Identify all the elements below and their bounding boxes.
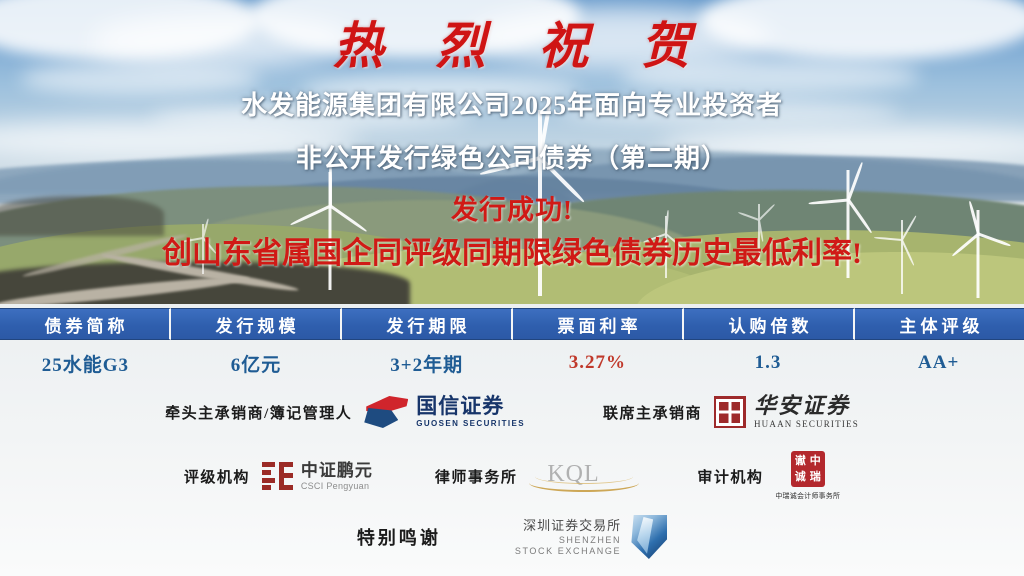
csci-logo-en: CSCI Pengyuan xyxy=(301,482,373,491)
table-cell-subscription-multiple: 1.3 xyxy=(683,344,854,382)
page-title: 热 烈 祝 贺 xyxy=(0,6,1024,78)
szse-logo-en2: STOCK EXCHANGE xyxy=(515,547,621,556)
guosen-wordmark: 国信证券 GUOSEN SECURITIES xyxy=(416,396,525,428)
table-cell-bond-name: 25水能G3 xyxy=(0,344,171,382)
table-header-cell: 主体评级 xyxy=(855,308,1024,340)
table-header-cell: 认购倍数 xyxy=(684,308,855,340)
table-header-row: 债券简称 发行规模 发行期限 票面利率 认购倍数 主体评级 xyxy=(0,308,1024,340)
seal-char: 诚 xyxy=(795,472,806,483)
lead-underwriter-label: 牵头主承销商/簿记管理人 xyxy=(165,402,352,423)
kql-emblem-icon: KQL xyxy=(529,461,639,491)
seal-char: 瑞 xyxy=(810,472,821,483)
special-thanks-label: 特别鸣谢 xyxy=(357,524,441,550)
huaan-seal-icon xyxy=(714,396,746,428)
csci-pengyuan-wordmark: 中证鹏元 CSCI Pengyuan xyxy=(301,462,373,491)
szse-emblem-icon xyxy=(629,515,667,559)
zhongruicheng-audit-logo: 谳 中 诚 瑞 中瑞诚会计师事务所 xyxy=(775,451,840,501)
huaan-securities-logo: 华安证券 HUAAN SECURITIES xyxy=(714,395,859,429)
audit-agency-group: 审计机构 谳 中 诚 瑞 中瑞诚会计师事务所 xyxy=(697,451,840,501)
kql-law-firm-logo: KQL xyxy=(529,461,639,491)
audit-firm-caption: 中瑞诚会计师事务所 xyxy=(775,491,840,501)
szse-logo-en1: SHENZHEN xyxy=(515,536,621,545)
table-cell-coupon-rate: 3.27% xyxy=(512,344,683,382)
audit-agency-label: 审计机构 xyxy=(697,466,763,487)
agencies-row: 评级机构 中证鹏元 CSCI Pengyuan 律 xyxy=(0,452,1024,500)
seal-char: 谳 xyxy=(795,456,806,467)
table-cell-issue-size: 6亿元 xyxy=(171,344,342,382)
guosen-emblem-icon xyxy=(364,395,410,429)
table-value-row: 25水能G3 6亿元 3+2年期 3.27% 1.3 AA+ xyxy=(0,344,1024,382)
huaan-wordmark: 华安证券 HUAAN SECURITIES xyxy=(754,395,859,429)
audit-logo-stack: 谳 中 诚 瑞 中瑞诚会计师事务所 xyxy=(775,451,840,501)
guosen-logo-en: GUOSEN SECURITIES xyxy=(416,420,525,428)
guosen-securities-logo: 国信证券 GUOSEN SECURITIES xyxy=(364,395,525,429)
table-header-cell: 发行期限 xyxy=(342,308,513,340)
szse-logo-cn: 深圳证券交易所 xyxy=(515,519,621,532)
csci-pengyuan-logo: 中证鹏元 CSCI Pengyuan xyxy=(262,462,373,491)
rating-agency-group: 评级机构 中证鹏元 CSCI Pengyuan xyxy=(184,462,373,491)
bond-summary-table: 债券简称 发行规模 发行期限 票面利率 认购倍数 主体评级 25水能G3 6亿元… xyxy=(0,308,1024,382)
rating-agency-label: 评级机构 xyxy=(184,466,250,487)
issuance-success-text: 发行成功! xyxy=(0,188,1024,227)
table-header-cell: 发行规模 xyxy=(171,308,342,340)
law-firm-group: 律师事务所 KQL xyxy=(435,461,640,491)
shenzhen-stock-exchange-logo: 深圳证券交易所 SHENZHEN STOCK EXCHANGE xyxy=(515,515,667,559)
seal-char: 中 xyxy=(810,456,821,467)
joint-underwriter-label: 联席主承销商 xyxy=(603,402,702,423)
record-rate-text: 创山东省属国企同评级同期限绿色债券历史最低利率! xyxy=(0,228,1024,272)
subtitle-line-2: 非公开发行绿色公司债券（第二期） xyxy=(0,138,1024,175)
table-header-cell: 债券简称 xyxy=(0,308,171,340)
csci-logo-cn: 中证鹏元 xyxy=(301,462,373,479)
csci-pengyuan-emblem-icon xyxy=(262,462,294,490)
law-firm-label: 律师事务所 xyxy=(435,466,518,487)
celebration-poster: 热 烈 祝 贺 水发能源集团有限公司2025年面向专业投资者 非公开发行绿色公司… xyxy=(0,0,1024,576)
table-cell-tenor: 3+2年期 xyxy=(341,344,512,382)
guosen-logo-cn: 国信证券 xyxy=(416,396,525,417)
zhongruicheng-seal-icon: 谳 中 诚 瑞 xyxy=(791,451,825,487)
lead-underwriter-group: 牵头主承销商/簿记管理人 国信证券 GUOSEN SECURITIES xyxy=(165,395,525,429)
huaan-logo-en: HUAAN SECURITIES xyxy=(754,420,859,429)
huaan-logo-cn: 华安证券 xyxy=(754,395,859,417)
special-thanks-row: 特别鸣谢 深圳证券交易所 SHENZHEN STOCK EXCHANGE xyxy=(0,512,1024,562)
szse-wordmark: 深圳证券交易所 SHENZHEN STOCK EXCHANGE xyxy=(515,519,621,556)
joint-underwriter-group: 联席主承销商 华安证券 HUAAN SECURITIES xyxy=(603,395,859,429)
table-cell-issuer-rating: AA+ xyxy=(853,344,1024,382)
subtitle-line-1: 水发能源集团有限公司2025年面向专业投资者 xyxy=(0,85,1024,122)
underwriters-row: 牵头主承销商/簿记管理人 国信证券 GUOSEN SECURITIES 联席主承… xyxy=(0,388,1024,436)
table-header-cell: 票面利率 xyxy=(513,308,684,340)
